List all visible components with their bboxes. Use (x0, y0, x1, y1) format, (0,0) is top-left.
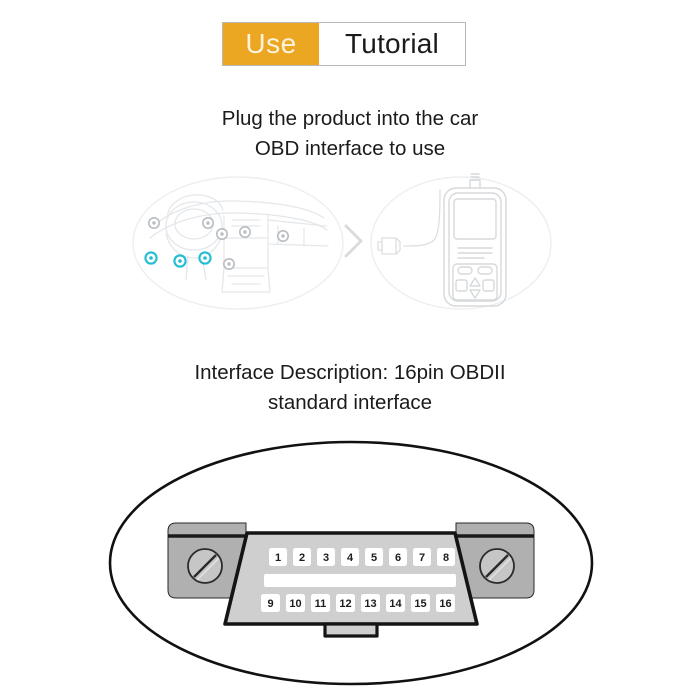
connector-center-slot (264, 574, 456, 587)
pin-number: 10 (289, 598, 301, 610)
pin-cell: 9 (261, 594, 280, 612)
obd-port-marker-highlight (145, 252, 210, 266)
pin-cell: 4 (341, 548, 359, 566)
pin-number: 6 (395, 552, 401, 564)
pin-number: 15 (414, 598, 426, 610)
pin-cell: 5 (365, 548, 383, 566)
pin-cell: 3 (317, 548, 335, 566)
pin-number: 8 (443, 552, 449, 564)
screw-icon (188, 549, 222, 583)
pin-number: 1 (275, 552, 281, 564)
illustration-band (0, 168, 700, 318)
interface-description-line1: Interface Description: 16pin OBDII (0, 358, 700, 388)
pin-number: 5 (371, 552, 377, 564)
pin-cell: 16 (436, 594, 455, 612)
pin-number: 2 (299, 552, 305, 564)
screw-icon (480, 549, 514, 583)
pin-number: 13 (364, 598, 376, 610)
pin-cell: 8 (437, 548, 455, 566)
car-dashboard-illustration (128, 168, 348, 318)
connector-bottom-tab (325, 624, 377, 636)
pin-cell: 11 (311, 594, 330, 612)
pin-number: 11 (315, 598, 327, 610)
pin-number: 12 (339, 598, 351, 610)
interface-description-line2: standard interface (0, 388, 700, 418)
page-title-badge: Use Tutorial (222, 22, 466, 66)
pin-cell: 13 (361, 594, 380, 612)
pin-number: 7 (419, 552, 425, 564)
step-instruction-line2: OBD interface to use (0, 134, 700, 164)
obd-scanner-illustration (366, 168, 556, 318)
interface-description-text: Interface Description: 16pin OBDII stand… (0, 358, 700, 418)
pin-cell: 10 (286, 594, 305, 612)
pin-number: 4 (347, 552, 354, 564)
obdii-connector-diagram: 1 2 3 4 5 6 7 8 9 10 11 12 13 14 15 16 (106, 438, 596, 688)
pin-cell: 12 (336, 594, 355, 612)
pin-cell: 6 (389, 548, 407, 566)
pin-number: 3 (323, 552, 329, 564)
pin-cell: 2 (293, 548, 311, 566)
step-instruction-line1: Plug the product into the car (0, 104, 700, 134)
pin-cell: 15 (411, 594, 430, 612)
pin-cell: 1 (269, 548, 287, 566)
pin-number: 16 (439, 598, 451, 610)
step-instruction-text: Plug the product into the car OBD interf… (0, 104, 700, 164)
pin-number: 9 (267, 598, 273, 610)
pin-cell: 7 (413, 548, 431, 566)
pin-number: 14 (389, 598, 402, 610)
badge-use-segment: Use (223, 23, 319, 65)
badge-tutorial-segment: Tutorial (319, 23, 465, 65)
pin-cell: 14 (386, 594, 405, 612)
